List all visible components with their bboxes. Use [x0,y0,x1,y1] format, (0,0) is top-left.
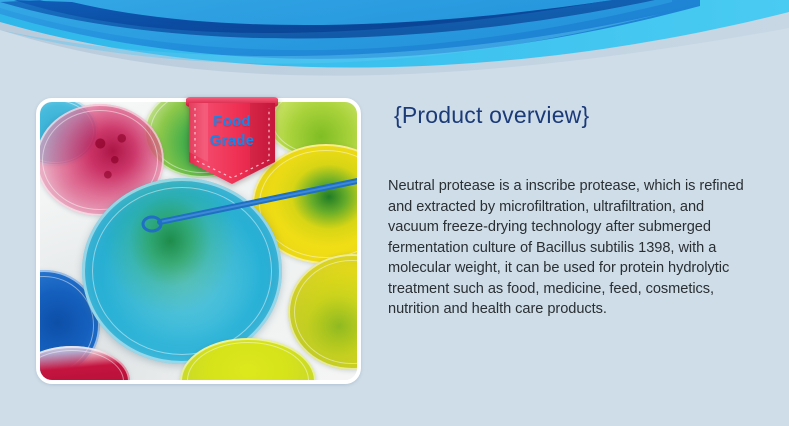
dish-center-cyan [82,178,282,364]
overview-body-text: Neutral protease is a inscribe protease,… [388,176,754,320]
food-grade-ribbon: Food Grade [186,94,278,188]
colony-specks [80,124,139,189]
decorative-wave-banner [0,0,789,80]
page-title: {Product overview} [394,100,764,130]
dish-crimson-bottom [36,346,130,384]
overview-content-column: {Product overview} Neutral protease is a… [388,100,764,320]
product-overview-page: Food Grade {Product overview} Neutral pr… [0,0,789,426]
